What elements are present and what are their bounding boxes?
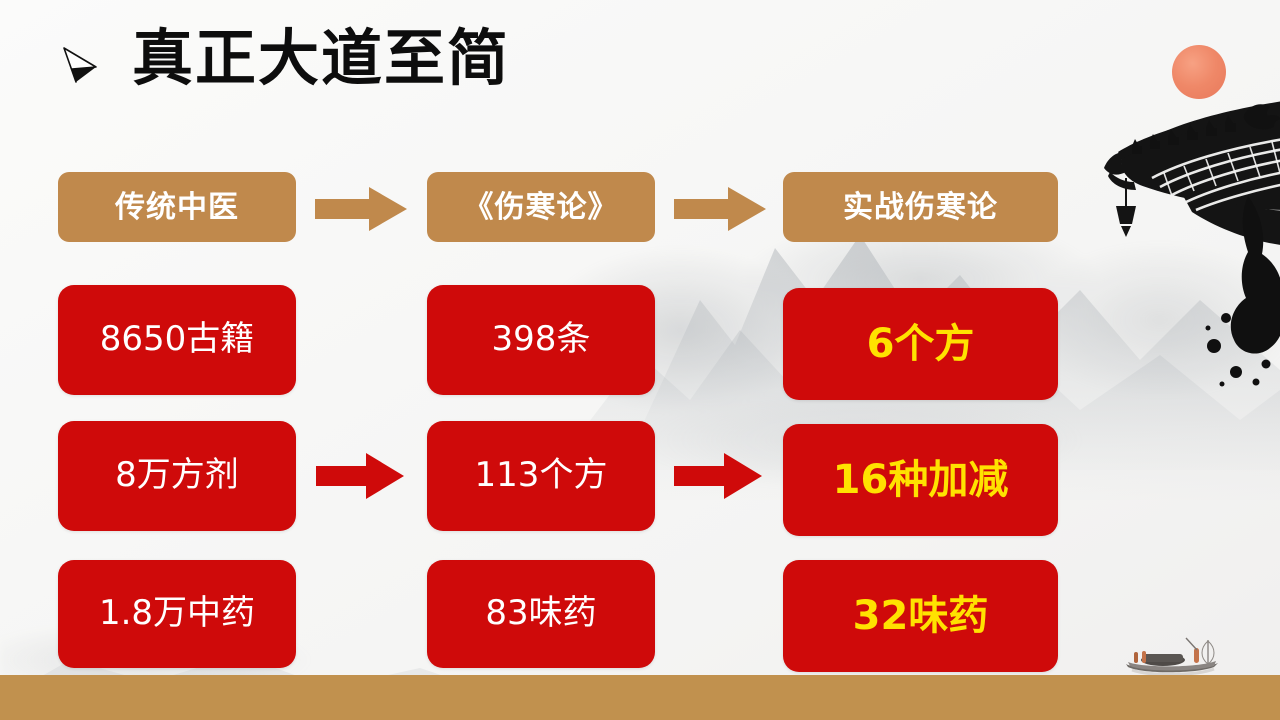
cell-col1-row2[interactable]: 8万方剂 [58, 421, 296, 531]
slide-canvas: 真正大道至简 传统中医 《伤寒论》 实战伤寒论 8650古籍 398条 6个方 … [0, 0, 1280, 720]
page-title: 真正大道至简 [132, 28, 510, 89]
header-arrow-right-icon-1 [313, 185, 409, 233]
sun-icon [1172, 45, 1226, 99]
cell-col3-row3[interactable]: 32味药 [783, 560, 1058, 672]
cell-col3-row1[interactable]: 6个方 [783, 288, 1058, 400]
cell-col1-row1[interactable]: 8650古籍 [58, 285, 296, 395]
column-header-shanghanlun[interactable]: 《伤寒论》 [427, 172, 655, 242]
cell-col3-row2[interactable]: 16种加减 [783, 424, 1058, 536]
cell-col2-row1[interactable]: 398条 [427, 285, 655, 395]
body-arrow-right-icon-2 [672, 450, 764, 502]
arrow-bullet-icon [58, 42, 102, 86]
cell-col2-row3[interactable]: 83味药 [427, 560, 655, 668]
header-arrow-right-icon-2 [672, 185, 768, 233]
slide-title-row: 真正大道至简 [58, 28, 510, 89]
column-header-traditional-tcm[interactable]: 传统中医 [58, 172, 296, 242]
fishing-boat-ink-art [1118, 636, 1228, 678]
chinese-roof-eave-ink-art [1060, 60, 1280, 250]
column-header-practical-shanghanlun[interactable]: 实战伤寒论 [783, 172, 1058, 242]
body-arrow-right-icon-1 [314, 450, 406, 502]
cell-col1-row3[interactable]: 1.8万中药 [58, 560, 296, 668]
cell-col2-row2[interactable]: 113个方 [427, 421, 655, 531]
ink-splatter-art [1196, 196, 1280, 396]
footer-accent-bar [0, 675, 1280, 720]
